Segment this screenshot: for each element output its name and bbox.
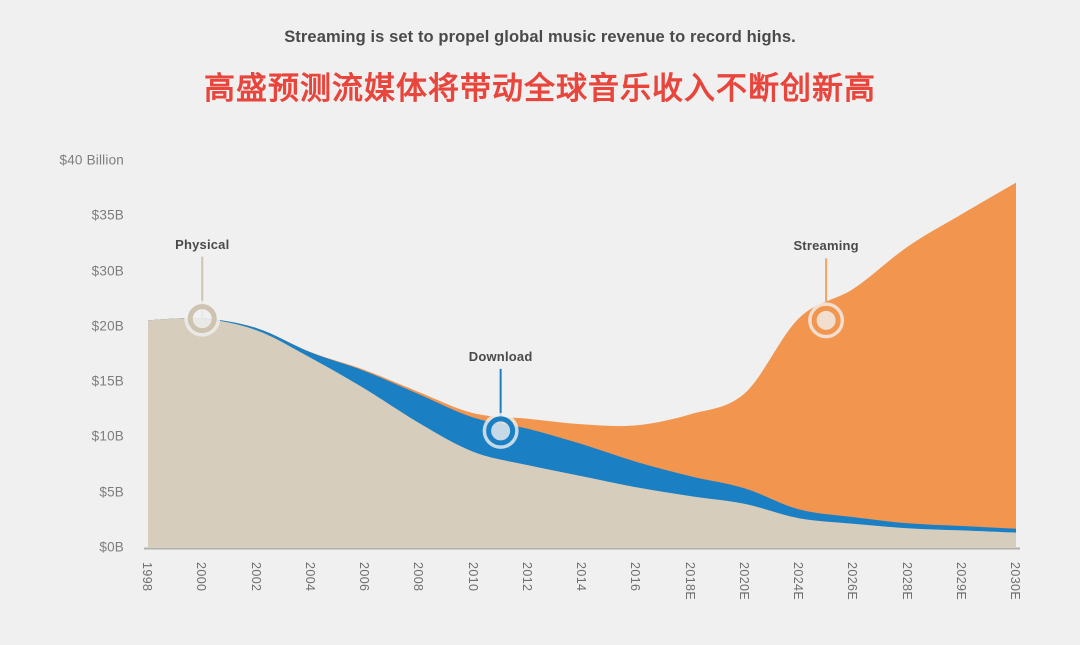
x-axis-tick-label: 2008 bbox=[411, 562, 425, 591]
x-axis-tick-label: 2002 bbox=[249, 562, 263, 591]
x-axis-tick-label: 2026E bbox=[845, 562, 859, 600]
x-axis-tick-label: 1998 bbox=[140, 562, 154, 591]
y-axis-tick-label: $15B bbox=[92, 374, 124, 389]
y-axis-tick-label: $5B bbox=[99, 484, 124, 499]
x-axis-tick-label: 2004 bbox=[303, 562, 317, 591]
x-axis-tick-label: 2006 bbox=[357, 562, 371, 591]
y-axis-tick-label: $35B bbox=[92, 208, 124, 223]
x-axis-tick-label: 2030E bbox=[1008, 562, 1022, 600]
stacked-area-chart: $0B$5B$10B$15B$20B$30B$35B$40 Billion 19… bbox=[0, 0, 1080, 645]
y-axis-tick-label: $30B bbox=[92, 263, 124, 278]
callout-label-download: Download bbox=[469, 349, 533, 364]
chart-svg bbox=[0, 0, 1080, 645]
area-layers bbox=[148, 183, 1016, 547]
y-axis-tick-label: $20B bbox=[92, 318, 124, 333]
x-axis-tick-label: 2020E bbox=[737, 562, 751, 600]
x-axis-tick-label: 2012 bbox=[520, 562, 534, 591]
x-axis-tick-label: 2016 bbox=[628, 562, 642, 591]
y-axis-tick-label: $10B bbox=[92, 429, 124, 444]
x-axis-tick-label: 2014 bbox=[574, 562, 588, 591]
x-axis-tick-label: 2029E bbox=[954, 562, 968, 600]
y-axis-tick-label: $40 Billion bbox=[60, 153, 125, 168]
chart-page: Streaming is set to propel global music … bbox=[0, 0, 1080, 645]
x-axis-tick-label: 2024E bbox=[791, 562, 805, 600]
callout-label-physical: Physical bbox=[175, 237, 229, 252]
x-axis-tick-label: 2018E bbox=[683, 562, 697, 600]
x-axis-tick-label: 2010 bbox=[466, 562, 480, 591]
callout-label-streaming: Streaming bbox=[793, 238, 858, 253]
x-axis-tick-label: 2028E bbox=[900, 562, 914, 600]
x-axis-tick-label: 2000 bbox=[194, 562, 208, 591]
y-axis-tick-label: $0B bbox=[99, 540, 124, 555]
